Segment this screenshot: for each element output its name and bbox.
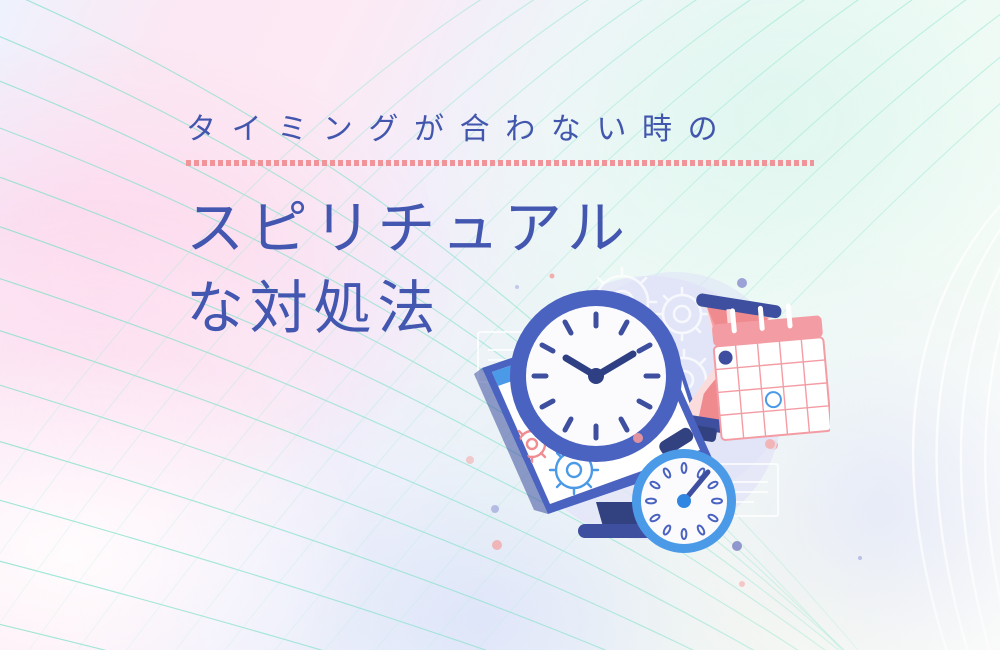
dotted-divider	[186, 160, 814, 166]
dot-pink-br2	[739, 581, 745, 587]
white-arc-family	[913, 156, 1000, 650]
calendar-rings	[728, 309, 729, 323]
calendar	[710, 301, 830, 440]
title-line-1: スピリチュアル	[186, 188, 846, 268]
calendar-body	[714, 337, 830, 440]
dot-purple-br2	[858, 556, 862, 560]
clock-center-pin	[588, 368, 604, 384]
banner-canvas: タイミングが合わない時の スピリチュアル な対処法	[0, 0, 1000, 650]
stopwatch-center-pin	[677, 494, 691, 508]
wall-clock	[510, 290, 682, 462]
time-management-illustration	[470, 258, 830, 558]
banner-subtitle: タイミングが合わない時の	[186, 112, 846, 148]
